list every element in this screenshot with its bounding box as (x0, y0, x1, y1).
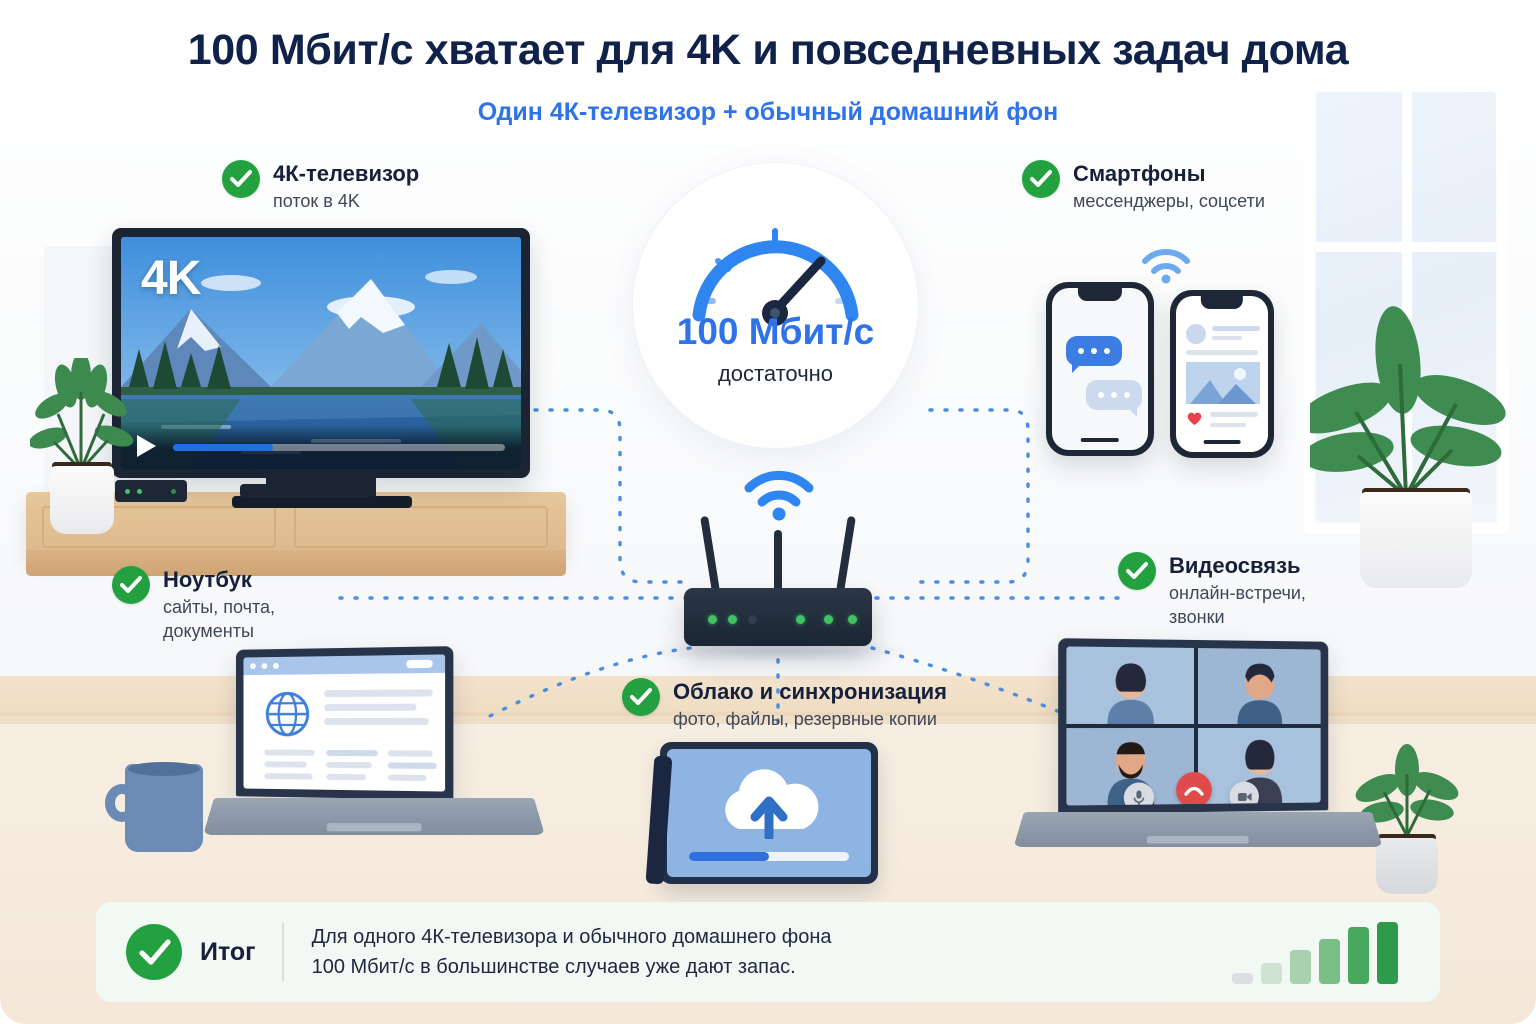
camera-icon (1237, 791, 1252, 802)
chat-bubble-tail-outgoing (1128, 408, 1137, 417)
play-icon[interactable] (137, 435, 156, 457)
mic-icon (1133, 789, 1145, 805)
cloud-upload-icon (709, 767, 829, 839)
laptop-videocall-keyboard[interactable] (1014, 812, 1383, 847)
summary-label: Итог (200, 938, 256, 967)
content-line (326, 774, 366, 780)
browser-dot (273, 663, 279, 669)
signal-bar (1377, 922, 1398, 984)
chat-bubble-tail-incoming (1072, 364, 1081, 373)
feed-line (1212, 326, 1260, 331)
signal-strength-chart (1232, 918, 1398, 984)
callout-laptop: Ноутбук сайты, почта, документы (112, 566, 275, 643)
signal-bar (1261, 963, 1282, 984)
callout-cloud: Облако и синхронизация фото, файлы, резе… (622, 678, 947, 732)
television: 4K (112, 228, 530, 478)
chat-bubble-outgoing (1086, 380, 1142, 410)
mug-rim (128, 762, 200, 776)
laptop-browsing-keyboard[interactable] (203, 798, 545, 835)
tablet-screen (667, 749, 871, 877)
phone-messaging-screen (1052, 288, 1148, 450)
summary-line-1: Для одного 4К-телевизора и обычного дома… (312, 922, 832, 952)
end-call-icon (1184, 784, 1204, 796)
callout-phones: Смартфоны мессенджеры, соцсети (1022, 160, 1265, 214)
callout-title: Ноутбук (163, 567, 275, 593)
summary-divider (282, 923, 284, 981)
phone-home-indicator (1204, 440, 1241, 444)
infographic-canvas: 100 Мбит/с хватает для 4K и повседневных… (0, 0, 1536, 1024)
signal-bar (1232, 973, 1253, 984)
check-icon (1022, 160, 1060, 198)
router-antenna-center (774, 530, 782, 592)
callout-tv: 4К-телевизор поток в 4K (222, 160, 419, 214)
camera-button[interactable] (1230, 781, 1259, 805)
wifi-icon-phones (1140, 246, 1192, 284)
check-icon (126, 924, 182, 980)
trackpad[interactable] (1147, 836, 1250, 844)
speed-gauge: 100 Мбит/с достаточно (633, 163, 918, 448)
console-drawer-right (294, 506, 548, 548)
page-subtitle: Один 4К-телевизор + обычный домашний фон (0, 98, 1536, 127)
end-call-button[interactable] (1176, 772, 1212, 806)
trackpad[interactable] (326, 823, 421, 831)
globe-icon (264, 690, 310, 738)
callout-title: Облако и синхронизация (673, 679, 947, 705)
mug-handle (105, 784, 139, 822)
phone-social-feed (1170, 290, 1274, 458)
phone-messaging (1046, 282, 1154, 456)
phone-notch (1201, 296, 1243, 309)
browser-addressbar[interactable] (406, 660, 433, 668)
feed-line (1210, 412, 1258, 417)
laptop-browsing (236, 646, 453, 800)
signal-bar (1348, 927, 1369, 984)
browser-titlebar (244, 654, 446, 675)
plant-left-pot (50, 466, 114, 534)
callout-title: Смартфоны (1073, 161, 1265, 187)
tablet-cloud (660, 742, 878, 884)
content-line (388, 775, 427, 782)
callout-video: Видеосвязь онлайн-встречи, звонки (1118, 552, 1306, 629)
content-line (326, 750, 378, 756)
callout-subtitle: онлайн-встречи, звонки (1169, 582, 1306, 630)
content-line (388, 762, 437, 769)
callout-title: 4К-телевизор (273, 161, 419, 187)
feed-image-placeholder (1186, 362, 1260, 404)
mic-button[interactable] (1124, 782, 1154, 805)
feed-avatar (1186, 324, 1206, 344)
content-line (324, 689, 432, 697)
callout-subtitle: сайты, почта, документы (163, 596, 275, 644)
callout-subtitle: поток в 4K (273, 190, 419, 214)
phone-notch (1078, 288, 1122, 301)
phone-home-indicator (1081, 438, 1119, 442)
signal-bar (1319, 939, 1340, 984)
tv-4k-badge: 4K (141, 251, 200, 306)
feed-line (1186, 350, 1258, 355)
content-line (326, 762, 372, 768)
content-line (324, 704, 416, 711)
summary-line-2: 100 Мбит/с в большинстве случаев уже даю… (312, 952, 832, 982)
content-line (264, 761, 306, 767)
check-icon (622, 678, 660, 716)
gauge-caption: достаточно (633, 361, 918, 387)
summary-bar: Итог Для одного 4К-телевизора и обычного… (96, 902, 1440, 1002)
check-icon (222, 160, 260, 198)
heart-icon[interactable] (1186, 410, 1203, 426)
page-title: 100 Мбит/с хватает для 4K и повседневных… (0, 26, 1536, 75)
tv-progress-bar[interactable] (173, 444, 505, 451)
callout-title: Видеосвязь (1169, 553, 1306, 579)
chat-bubble-incoming (1066, 336, 1122, 366)
laptop-videocall (1058, 638, 1328, 814)
content-line (264, 773, 312, 780)
callout-subtitle: фото, файлы, резервные копии (673, 708, 947, 732)
browser-dot (250, 663, 256, 669)
browser-dot (262, 663, 268, 669)
content-line (324, 718, 428, 725)
signal-bar (1290, 950, 1311, 984)
wifi-icon-router (742, 466, 816, 522)
content-line (264, 750, 314, 756)
check-icon (1118, 552, 1156, 590)
feed-line (1212, 336, 1242, 340)
check-icon (112, 566, 150, 604)
phone-social-screen (1176, 296, 1268, 452)
plant-right-pot (1360, 492, 1472, 588)
laptop-browser-screen (244, 654, 446, 791)
content-line (388, 750, 433, 756)
gauge-value: 100 Мбит/с (633, 311, 918, 353)
feed-line (1210, 423, 1246, 427)
callout-subtitle: мессенджеры, соцсети (1073, 190, 1265, 214)
soundbar (240, 484, 370, 498)
router (684, 588, 872, 646)
console-shelf (26, 550, 566, 576)
plant-desk-pot (1376, 838, 1438, 894)
tv-screen: 4K (121, 237, 521, 469)
videocall-screen (1066, 646, 1320, 805)
tablet-progress-bar[interactable] (689, 852, 849, 861)
